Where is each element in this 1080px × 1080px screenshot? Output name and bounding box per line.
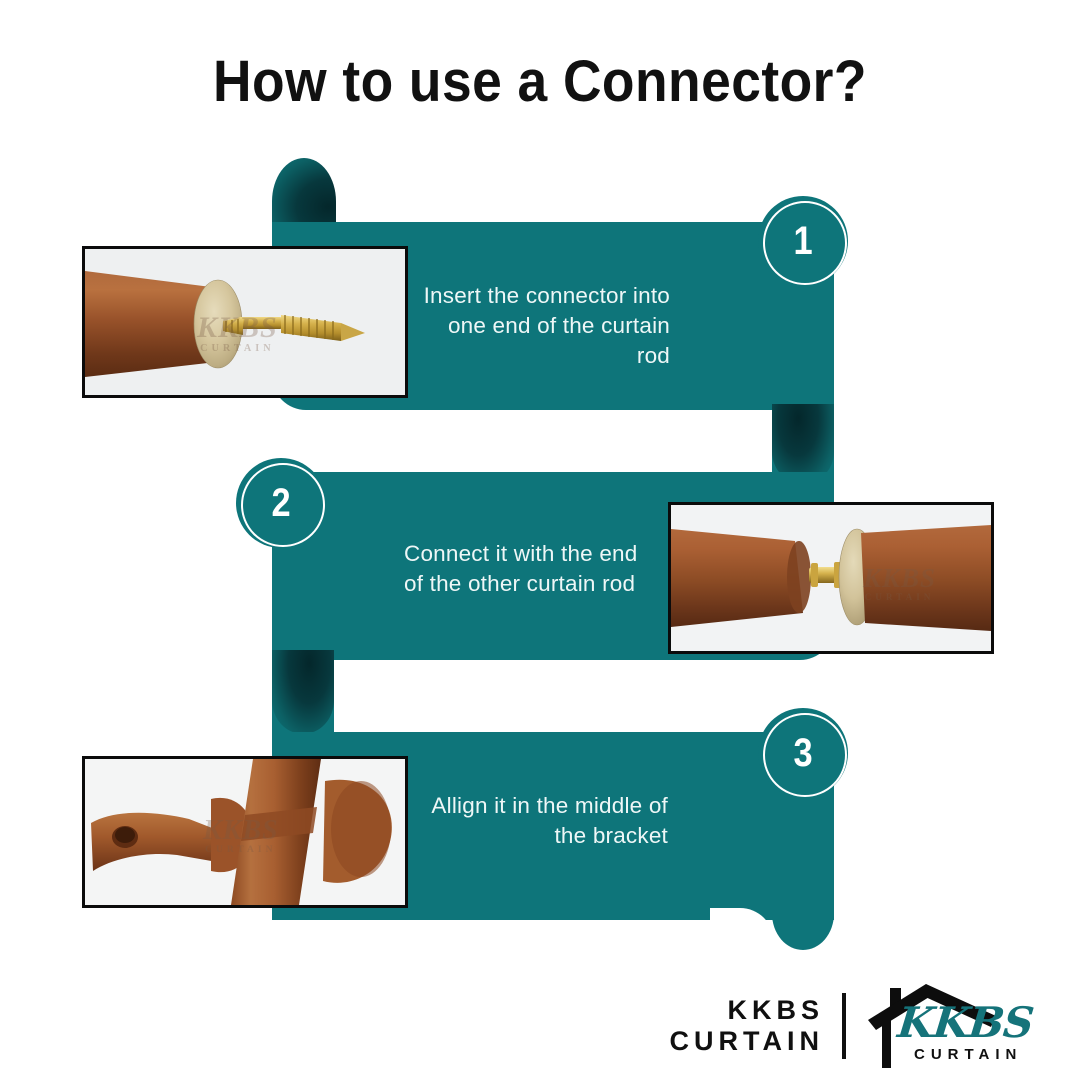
- rod-in-bracket-illustration: [85, 759, 405, 905]
- ribbon-tail: [772, 908, 834, 950]
- footer-wordmark-line1: KKBS: [670, 995, 824, 1026]
- step-1-badge: 1: [758, 196, 848, 286]
- step-3-photo: KKBS CURTAIN: [82, 756, 408, 908]
- footer-wordmark-line2: CURTAIN: [670, 1026, 824, 1057]
- step-3-photo-image: [85, 759, 405, 905]
- infographic-canvas: How to use a Connector? Insert the conne…: [0, 0, 1080, 1080]
- logo-sub-text: CURTAIN: [914, 1046, 1022, 1063]
- step-3-badge: 3: [758, 708, 848, 798]
- step-3-text: Allign it in the middle of the bracket: [412, 791, 668, 851]
- footer-divider: [842, 993, 846, 1059]
- rod-with-screw-illustration: [85, 249, 405, 395]
- ribbon-fold-left-2: [272, 650, 334, 734]
- step-1-photo: KKBS CURTAIN: [82, 246, 408, 398]
- page-title: How to use a Connector?: [43, 48, 1037, 115]
- footer-branding: KKBS CURTAIN KKBS CURTAIN: [600, 980, 1040, 1072]
- two-rods-joined-illustration: [671, 505, 991, 651]
- step-2-photo-image: [671, 505, 991, 651]
- brand-logo: KKBS CURTAIN: [864, 982, 1040, 1070]
- step-2-text: Connect it with the end of the other cur…: [404, 539, 660, 599]
- step-2-photo: KKBS CURTAIN: [668, 502, 994, 654]
- footer-wordmark: KKBS CURTAIN: [670, 995, 824, 1057]
- step-2-number: 2: [271, 483, 290, 523]
- step-2-badge: 2: [236, 458, 326, 548]
- step-1-number: 1: [793, 221, 812, 261]
- step-3-number: 3: [793, 733, 812, 773]
- step-1-text: Insert the connector into one end of the…: [414, 281, 670, 371]
- logo-script-text: KKBS: [895, 998, 1035, 1047]
- step-1-photo-image: [85, 249, 405, 395]
- ribbon-fold-top-left: [272, 158, 336, 228]
